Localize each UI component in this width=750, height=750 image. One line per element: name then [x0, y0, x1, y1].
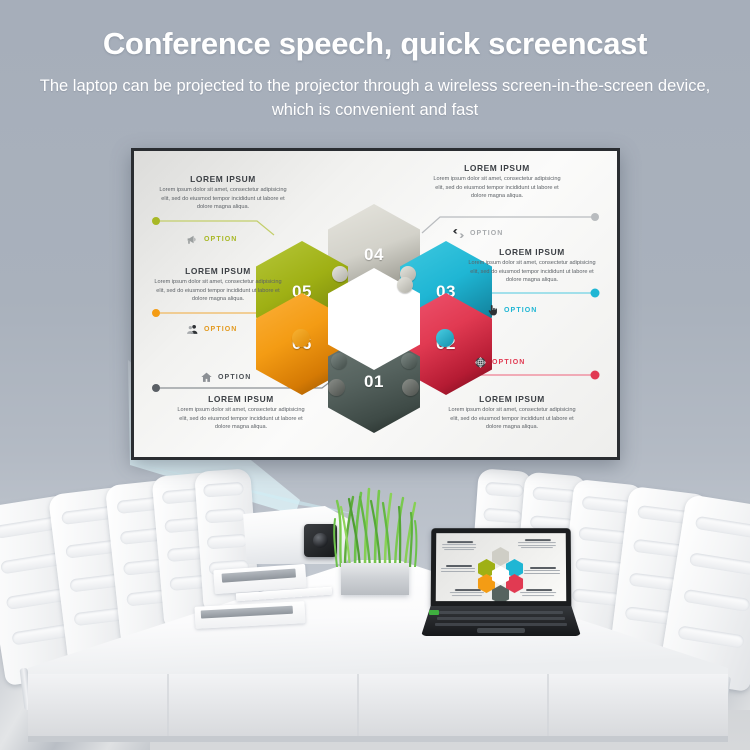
laptop-screen — [431, 528, 572, 608]
hexagon-03-knob-left — [397, 277, 413, 293]
grass-foliage-icon — [331, 485, 419, 567]
option-bottom-right[interactable]: OPTION — [474, 356, 525, 369]
callout-top-right: LOREM IPSUM Lorem ipsum dolor sit amet, … — [429, 163, 565, 201]
globe-icon — [474, 356, 487, 369]
callout-bottom-right-body: Lorem ipsum dolor sit amet, consectetur … — [444, 406, 580, 432]
callout-mid-right: LOREM IPSUM Lorem ipsum dolor sit amet, … — [464, 247, 600, 285]
mini-callout-top-left — [442, 541, 478, 550]
page-subtitle: The laptop can be projected to the proje… — [0, 61, 750, 123]
option-top-left[interactable]: OPTION — [186, 233, 237, 246]
callout-bottom-right: LOREM IPSUM Lorem ipsum dolor sit amet, … — [444, 394, 580, 432]
callout-top-right-heading: LOREM IPSUM — [429, 163, 565, 173]
exchange-arrows-icon — [452, 227, 465, 240]
callout-top-left-body: Lorem ipsum dolor sit amet, consectetur … — [158, 186, 288, 212]
mini-callout-bottom-right — [520, 589, 558, 596]
option-bottom-left-label: OPTION — [218, 374, 251, 381]
page-title: Conference speech, quick screencast — [0, 0, 750, 61]
plant-pot — [341, 563, 409, 595]
callout-top-left: LOREM IPSUM Lorem ipsum dolor sit amet, … — [158, 174, 288, 212]
mini-callout-mid-left — [441, 565, 477, 572]
mini-callout-mid-right — [524, 567, 562, 574]
option-top-right[interactable]: OPTION — [452, 227, 503, 240]
hexagon-01-knob-right — [401, 353, 417, 369]
option-top-left-label: OPTION — [204, 236, 237, 243]
option-mid-left[interactable]: OPTION — [186, 323, 237, 336]
laptop[interactable] — [421, 528, 581, 638]
page-header: Conference speech, quick screencast The … — [0, 0, 750, 150]
mini-hexagon-04 — [492, 547, 509, 566]
option-top-right-label: OPTION — [470, 230, 503, 237]
laptop-keyboard-base[interactable] — [421, 606, 581, 636]
callout-bottom-left: LOREM IPSUM Lorem ipsum dolor sit amet, … — [174, 394, 308, 432]
megaphone-icon — [186, 233, 199, 246]
callout-bottom-right-heading: LOREM IPSUM — [444, 394, 580, 404]
users-icon — [186, 323, 199, 336]
projection-screen[interactable]: 04 05 03 06 — [131, 148, 620, 460]
hexagon-06-knob — [328, 379, 345, 396]
hexagon-01-number: 01 — [364, 372, 384, 392]
hexagon-03-knob-bottom — [436, 329, 454, 347]
laptop-brand-badge — [429, 610, 439, 615]
hexagon-02-knob — [402, 379, 419, 396]
home-icon — [200, 371, 213, 384]
option-mid-right-label: OPTION — [504, 307, 537, 314]
callout-mid-right-heading: LOREM IPSUM — [464, 247, 600, 257]
potted-plant — [331, 487, 419, 595]
callout-top-left-heading: LOREM IPSUM — [158, 174, 288, 184]
mini-callout-top-right — [518, 539, 558, 548]
hexagon-01-knob-left — [331, 353, 347, 369]
callout-mid-left: LOREM IPSUM Lorem ipsum dolor sit amet, … — [152, 266, 284, 304]
mini-callout-bottom-left — [450, 589, 486, 596]
option-bottom-right-label: OPTION — [492, 359, 525, 366]
option-mid-right[interactable]: OPTION — [486, 304, 537, 317]
callout-mid-left-heading: LOREM IPSUM — [152, 266, 284, 276]
hexagon-04-number: 04 — [364, 245, 384, 265]
callout-bottom-left-body: Lorem ipsum dolor sit amet, consectetur … — [174, 406, 308, 432]
callout-mid-right-body: Lorem ipsum dolor sit amet, consectetur … — [464, 259, 600, 285]
laptop-screen-content — [436, 533, 567, 601]
option-bottom-left[interactable]: OPTION — [200, 371, 251, 384]
hand-pointer-icon — [486, 304, 499, 317]
hexagon-05-knob — [292, 329, 310, 347]
hexagon-04-knob-left — [332, 266, 348, 282]
option-mid-left-label: OPTION — [204, 326, 237, 333]
callout-bottom-left-heading: LOREM IPSUM — [174, 394, 308, 404]
slide-content: 04 05 03 06 — [134, 151, 617, 457]
callout-top-right-body: Lorem ipsum dolor sit amet, consectetur … — [429, 175, 565, 201]
callout-mid-left-body: Lorem ipsum dolor sit amet, consectetur … — [152, 278, 284, 304]
